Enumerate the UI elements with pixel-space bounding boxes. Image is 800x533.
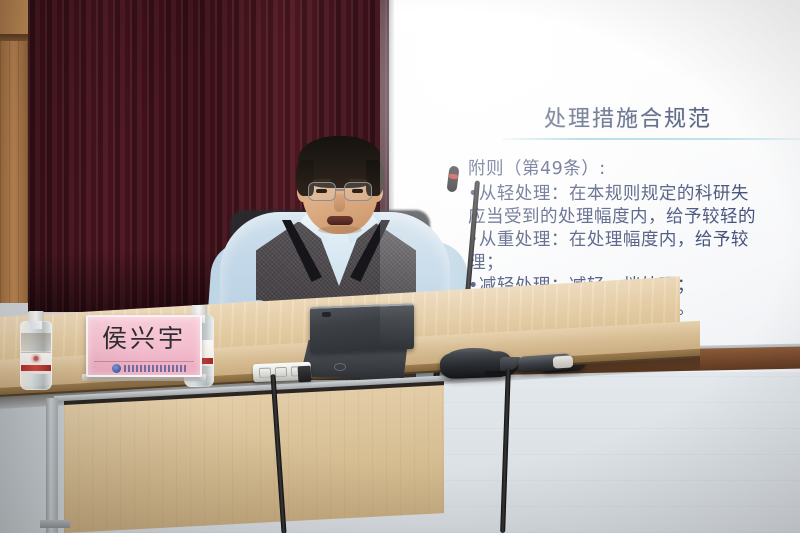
eye-left — [316, 189, 327, 193]
table-leg-foot — [40, 520, 70, 528]
eye-right — [352, 189, 363, 193]
slide-line: •从重处理：在处理幅度内，给予较 — [468, 226, 749, 251]
power-socket[interactable] — [259, 367, 271, 378]
organization-name-text — [124, 365, 186, 372]
wood-wall-panel-lower — [0, 41, 31, 303]
mouth — [327, 216, 353, 225]
nose — [334, 194, 345, 212]
tablet-device[interactable] — [300, 305, 416, 377]
tablet-logo-icon — [334, 363, 346, 371]
tablet-back-cover — [310, 303, 414, 353]
slide-line: •从轻处理：在本规则规定的科研失 — [468, 180, 749, 205]
bottle-contents — [21, 333, 51, 351]
chin-shadow — [318, 226, 362, 234]
bottle-neck — [30, 321, 42, 329]
name-card-name: 侯兴宇 — [88, 324, 200, 354]
tablet-camera-icon — [322, 312, 331, 317]
slide-title-divider — [502, 138, 800, 140]
power-plug — [298, 366, 312, 383]
modesty-panel — [64, 385, 444, 533]
organization-logo-icon — [112, 364, 121, 373]
slide-title: 处理措施合规范 — [544, 101, 712, 133]
wood-wall-panel-upper — [0, 0, 30, 36]
slide-line: 应当受到的处理幅度内，给予较轻的 — [468, 203, 756, 228]
presentation-remote-pad — [553, 355, 574, 368]
name-card: 侯兴宇 — [86, 315, 202, 377]
power-socket[interactable] — [275, 367, 287, 378]
bottle-label-logo — [27, 354, 45, 363]
water-bottle-left[interactable] — [18, 305, 54, 390]
table-leg-left — [46, 398, 58, 533]
conference-room-photo: 处理措施合规范 附则（第49条）: •从轻处理：在本规则规定的科研失 应当受到的… — [0, 0, 800, 533]
microphone-indicator-light — [449, 173, 459, 179]
bottle-label-stripe — [21, 365, 51, 371]
glasses-bridge — [336, 189, 344, 191]
name-card-divider — [94, 361, 194, 362]
